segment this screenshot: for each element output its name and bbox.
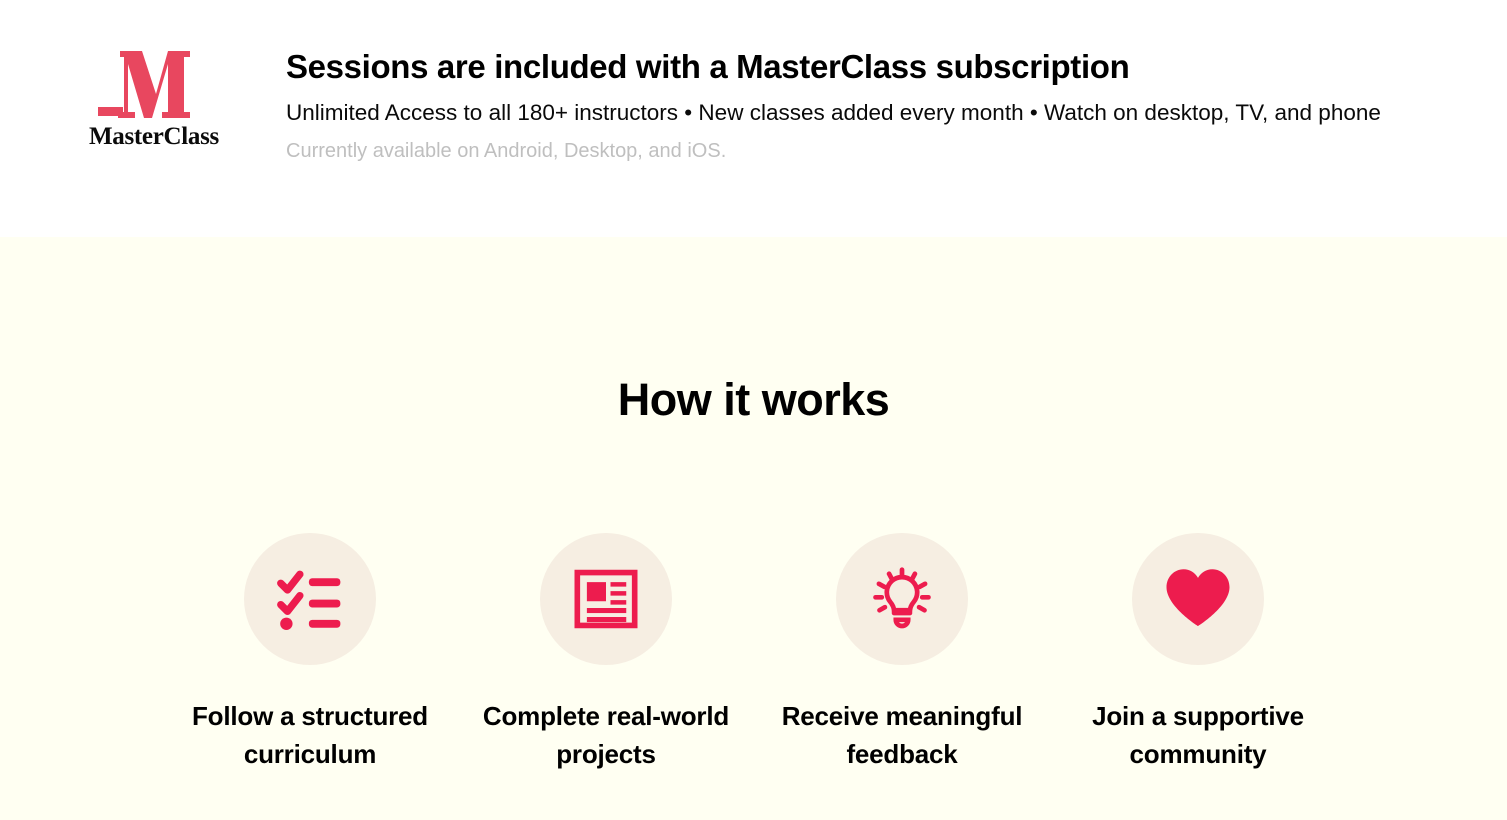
- page-title: Sessions are included with a MasterClass…: [286, 48, 1466, 87]
- header-subtitle: Unlimited Access to all 180+ instructors…: [286, 98, 1466, 127]
- how-it-works-card: Follow a structured curriculum: [162, 533, 458, 774]
- card-label: Complete real-world projects: [461, 698, 751, 774]
- checklist-icon: [274, 563, 346, 635]
- icon-circle: [1132, 533, 1264, 665]
- masterclass-logo: MasterClass: [88, 48, 220, 156]
- card-label: Receive meaningful feedback: [757, 698, 1047, 774]
- how-it-works-cards: Follow a structured curriculum: [162, 533, 1346, 774]
- header-text-block: Sessions are included with a MasterClass…: [286, 48, 1466, 164]
- card-label: Follow a structured curriculum: [165, 698, 455, 774]
- header-band: MasterClass Sessions are included with a…: [0, 0, 1507, 237]
- how-it-works-section: How it works: [0, 237, 1507, 820]
- landing-page: MasterClass Sessions are included with a…: [0, 0, 1507, 820]
- icon-circle: [540, 533, 672, 665]
- how-it-works-title: How it works: [0, 375, 1507, 425]
- how-it-works-card: Join a supportive community: [1050, 533, 1346, 774]
- heart-icon: [1162, 563, 1234, 635]
- masterclass-m-icon: [98, 48, 210, 122]
- icon-circle: [244, 533, 376, 665]
- document-icon: [570, 563, 642, 635]
- availability-note: Currently available on Android, Desktop,…: [286, 138, 1466, 164]
- how-it-works-card: Complete real-world projects: [458, 533, 754, 774]
- logo-wordmark: MasterClass: [89, 124, 219, 149]
- lightbulb-icon: [866, 563, 938, 635]
- icon-circle: [836, 533, 968, 665]
- how-it-works-card: Receive meaningful feedback: [754, 533, 1050, 774]
- card-label: Join a supportive community: [1053, 698, 1343, 774]
